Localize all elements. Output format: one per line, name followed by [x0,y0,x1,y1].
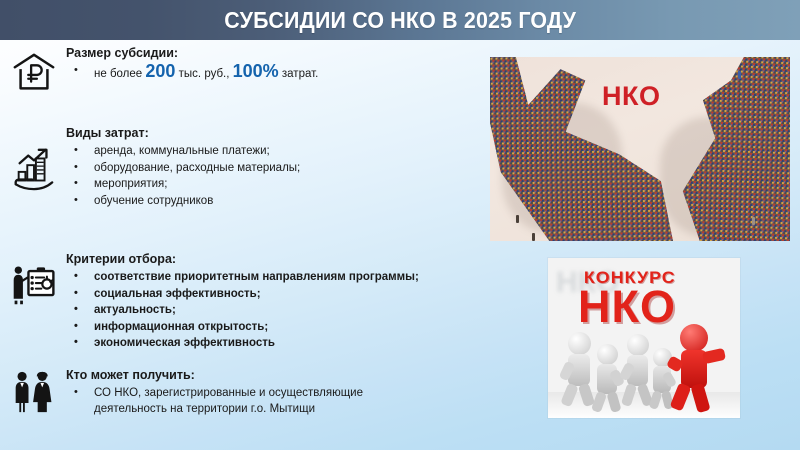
list-item: актуальность; [66,303,419,319]
list-item: оборудование, расходные материалы; [66,161,300,177]
list-item: информационная открытость; [66,320,419,336]
hand-growth-chart-icon [8,146,60,192]
list-item: аренда, коммунальные платежи; [66,144,300,160]
section-heading: Критерии отбора: [66,252,419,266]
list-item: мероприятия; [66,177,300,193]
section-heading: Виды затрат: [66,126,300,140]
list-item: не более 200 тыс. руб., 100% затрат. [66,64,318,83]
bullet-list: СО НКО, зарегистрированные и осуществляю… [66,386,394,417]
list-item: обучение сотрудников [66,194,300,210]
page-title: СУБСИДИИ СО НКО В 2025 ГОДУ [224,7,576,34]
slide-canvas: СУБСИДИИ СО НКО В 2025 ГОДУ Размер субси… [0,0,800,450]
subsidy-percent-suffix: затрат. [282,68,318,80]
section-cost-types-body: Виды затрат: аренда, коммунальные платеж… [66,126,300,210]
poster-line-nko: НКО [578,284,676,329]
section-subsidy-size-body: Размер субсидии: не более 200 тыс. руб.,… [66,46,318,84]
list-item: соответствие приоритетным направлениям п… [66,270,419,286]
list-item: экономическая эффективность [66,336,419,352]
subsidy-amount-unit: тыс. руб., [179,68,230,80]
hands-photo-label: НКО [602,81,660,112]
list-item: социальная эффективность; [66,287,419,303]
bullet-list: не более 200 тыс. руб., 100% затрат. [66,64,318,83]
section-heading: Кто может получить: [66,368,394,382]
section-heading: Размер субсидии: [66,46,318,60]
two-people-icon [8,370,60,414]
house-ruble-icon [8,50,60,96]
bullet-list: аренда, коммунальные платежи; оборудован… [66,144,300,209]
bullet-list: соответствие приоритетным направлениям п… [66,270,419,352]
contest-nko-poster: НКО КОНКУРС НКО [548,258,740,418]
section-selection-criteria-body: Критерии отбора: соответствие приоритетн… [66,252,419,353]
bullet-prefix-text: не более [94,68,142,80]
list-item: СО НКО, зарегистрированные и осуществляю… [66,386,394,417]
section-who-can-receive-body: Кто может получить: СО НКО, зарегистриро… [66,368,394,418]
crowd-hands-photo: НКО [490,57,790,241]
subsidy-amount: 200 [145,61,175,81]
presenter-checklist-icon [8,260,60,308]
subsidy-percent: 100% [233,61,279,81]
slide-header-bar: СУБСИДИИ СО НКО В 2025 ГОДУ [0,0,800,40]
